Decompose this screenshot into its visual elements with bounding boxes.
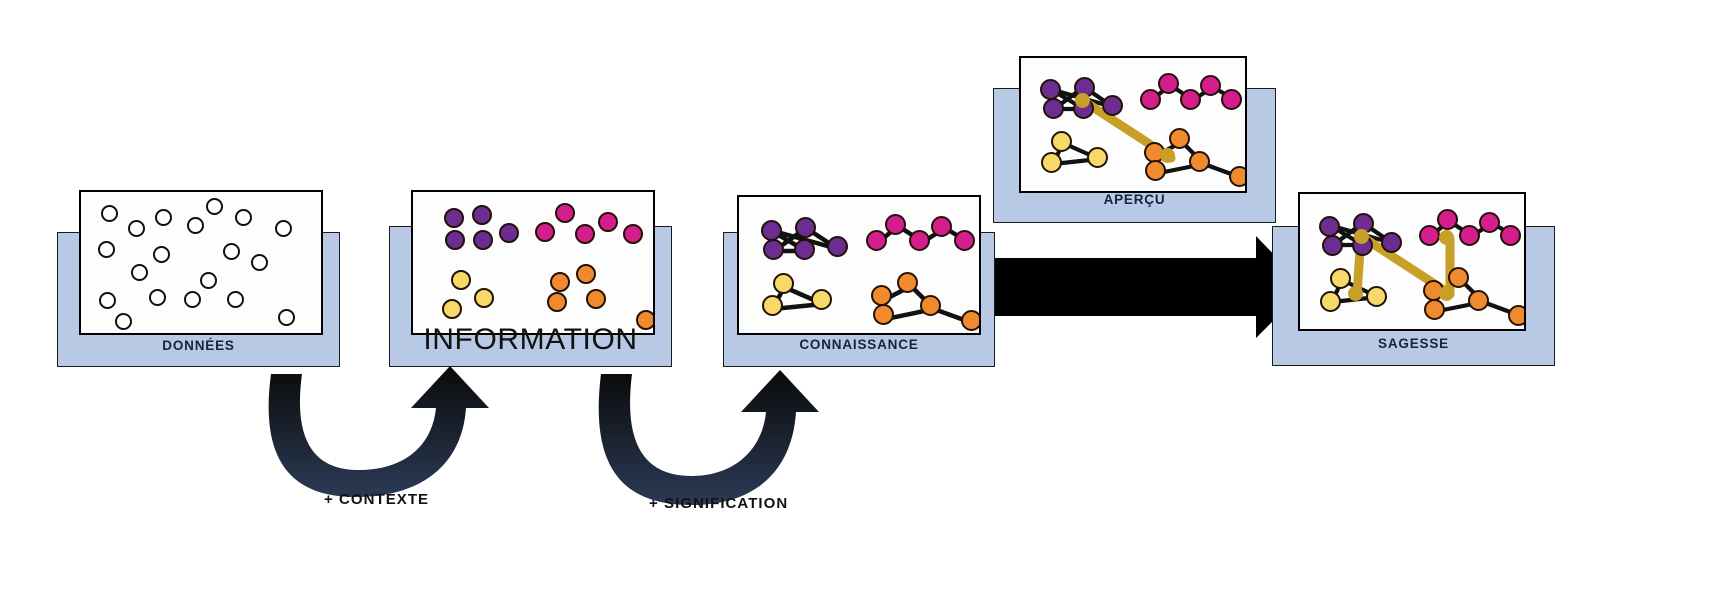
caption-apercu: APERÇU bbox=[993, 192, 1276, 207]
info-node-magenta bbox=[535, 222, 555, 242]
insight-node-orange bbox=[1189, 151, 1210, 172]
stage-panel-information[interactable]: INFORMATION bbox=[389, 226, 672, 367]
stage-panel-connaissance[interactable]: CONNAISSANCE bbox=[723, 232, 995, 367]
data-point bbox=[155, 209, 172, 226]
wisdom-node-orange bbox=[1448, 267, 1469, 288]
wisdom-node-yellow bbox=[1366, 286, 1387, 307]
apercu-picture bbox=[1019, 56, 1247, 193]
info-node-purple bbox=[472, 205, 492, 225]
data-point bbox=[223, 243, 240, 260]
label-plus-signification: + SIGNIFICATION bbox=[649, 495, 788, 512]
data-point bbox=[149, 289, 166, 306]
data-point bbox=[206, 198, 223, 215]
info-node-orange bbox=[550, 272, 570, 292]
info-node-purple bbox=[473, 230, 493, 250]
caption-information: INFORMATION bbox=[389, 323, 672, 357]
sagesse-picture bbox=[1298, 192, 1526, 331]
insight-node-magenta bbox=[1158, 73, 1179, 94]
wisdom-node-magenta bbox=[1459, 225, 1480, 246]
data-point bbox=[101, 205, 118, 222]
data-point bbox=[128, 220, 145, 237]
data-point bbox=[235, 209, 252, 226]
info-node-orange bbox=[547, 292, 567, 312]
insight-node-magenta bbox=[1140, 89, 1161, 110]
knowledge-node-purple bbox=[827, 236, 848, 257]
gold-hub-purple bbox=[1075, 93, 1090, 108]
arrow-connaissance-to-sagesse bbox=[988, 236, 1306, 338]
info-node-yellow bbox=[442, 299, 462, 319]
info-node-orange bbox=[586, 289, 606, 309]
insight-node-magenta bbox=[1221, 89, 1242, 110]
gold-hub-yellow bbox=[1348, 286, 1363, 301]
info-node-magenta bbox=[555, 203, 575, 223]
knowledge-node-magenta bbox=[866, 230, 887, 251]
knowledge-node-magenta bbox=[931, 216, 952, 237]
wisdom-node-purple bbox=[1381, 232, 1402, 253]
stage-panel-sagesse[interactable]: SAGESSE bbox=[1272, 226, 1555, 366]
arrow-contexte bbox=[269, 366, 489, 497]
wisdom-node-purple bbox=[1319, 216, 1340, 237]
connaissance-picture bbox=[737, 195, 981, 335]
data-point bbox=[200, 272, 217, 289]
info-node-magenta bbox=[575, 224, 595, 244]
insight-node-purple bbox=[1102, 95, 1123, 116]
info-node-magenta bbox=[598, 212, 618, 232]
caption-donnees: DONNÉES bbox=[57, 338, 340, 353]
info-node-magenta bbox=[623, 224, 643, 244]
data-point bbox=[184, 291, 201, 308]
knowledge-node-yellow bbox=[773, 273, 794, 294]
donnees-picture bbox=[79, 190, 323, 335]
knowledge-node-orange bbox=[920, 295, 941, 316]
data-point bbox=[115, 313, 132, 330]
arrow-signification bbox=[599, 370, 819, 505]
wisdom-node-purple bbox=[1322, 235, 1343, 256]
data-point bbox=[278, 309, 295, 326]
info-node-purple bbox=[499, 223, 519, 243]
label-plus-contexte: + CONTEXTE bbox=[324, 491, 429, 508]
data-point bbox=[99, 292, 116, 309]
caption-connaissance: CONNAISSANCE bbox=[723, 337, 995, 352]
gold-hub-orange bbox=[1439, 286, 1454, 301]
data-point bbox=[98, 241, 115, 258]
caption-sagesse: SAGESSE bbox=[1272, 336, 1555, 351]
data-point bbox=[131, 264, 148, 281]
knowledge-node-magenta bbox=[954, 230, 975, 251]
info-node-purple bbox=[444, 208, 464, 228]
info-node-purple bbox=[445, 230, 465, 250]
info-node-yellow bbox=[474, 288, 494, 308]
knowledge-node-purple bbox=[761, 220, 782, 241]
wisdom-node-magenta bbox=[1437, 209, 1458, 230]
knowledge-node-purple bbox=[763, 239, 784, 260]
knowledge-node-magenta bbox=[909, 230, 930, 251]
wisdom-node-magenta bbox=[1479, 212, 1500, 233]
gold-hub-purple bbox=[1354, 229, 1369, 244]
dikw-diagram: DONNÉES INFORMATION bbox=[0, 0, 1728, 614]
insight-node-orange bbox=[1229, 166, 1247, 187]
insight-node-magenta bbox=[1180, 89, 1201, 110]
data-point bbox=[227, 291, 244, 308]
wisdom-node-magenta bbox=[1419, 225, 1440, 246]
knowledge-node-yellow bbox=[762, 295, 783, 316]
information-picture bbox=[411, 190, 655, 335]
wisdom-node-orange bbox=[1468, 290, 1489, 311]
info-node-orange bbox=[576, 264, 596, 284]
data-point bbox=[153, 246, 170, 263]
data-point bbox=[187, 217, 204, 234]
wisdom-node-orange bbox=[1508, 305, 1526, 326]
knowledge-node-orange bbox=[961, 310, 981, 331]
data-point bbox=[251, 254, 268, 271]
data-point bbox=[275, 220, 292, 237]
stage-panel-apercu[interactable]: APERÇU bbox=[993, 88, 1276, 223]
stage-panel-donnees[interactable]: DONNÉES bbox=[57, 232, 340, 367]
info-node-yellow bbox=[451, 270, 471, 290]
